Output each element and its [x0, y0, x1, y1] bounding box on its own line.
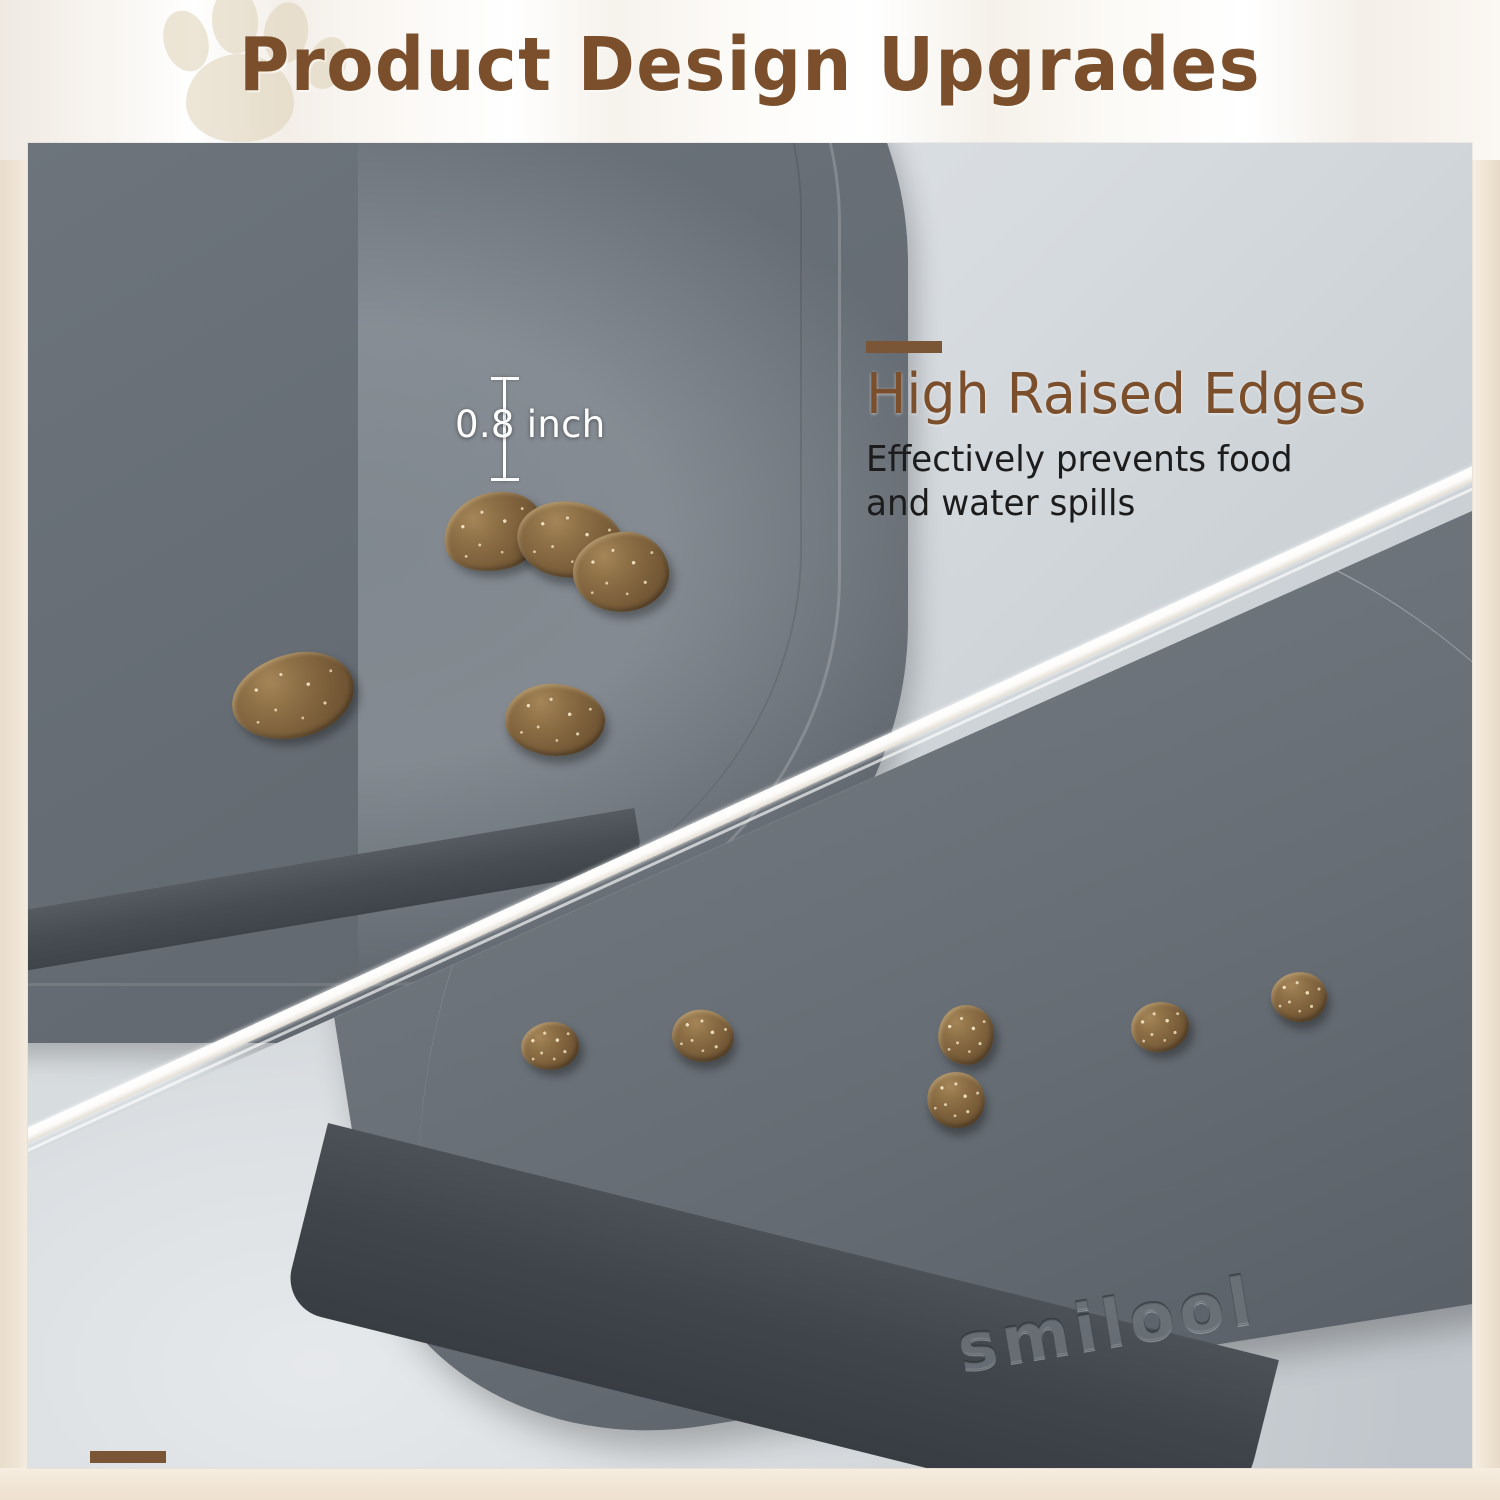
accent-dash-icon — [866, 341, 942, 353]
callout-heading: High Raised Edges — [866, 365, 1472, 425]
infographic-canvas: Product Design Upgrades smilool — [0, 0, 1500, 1500]
callout-subtitle-line2: and water spills — [866, 483, 1135, 524]
bottom-background-strip — [0, 1468, 1500, 1500]
dimension-cap-bottom — [491, 478, 519, 481]
dimension-label: 0.8 inch — [455, 403, 606, 446]
dimension-annotation: 0.8 inch — [461, 371, 611, 491]
callout-keeping-floor-clean: Keeping the floor clean Minimizes time s… — [90, 1451, 1250, 1468]
accent-dash-icon — [90, 1451, 166, 1463]
callout-subtitle-line1: Effectively prevents food — [866, 439, 1293, 480]
callout-high-raised-edges: High Raised Edges Effectively prevents f… — [866, 341, 1472, 526]
product-photo-panel: smilool 0.8 inch High Raised Edges Effec… — [28, 143, 1472, 1468]
callout-subtitle: Effectively prevents food and water spil… — [866, 438, 1446, 526]
page-title: Product Design Upgrades — [53, 22, 1448, 108]
